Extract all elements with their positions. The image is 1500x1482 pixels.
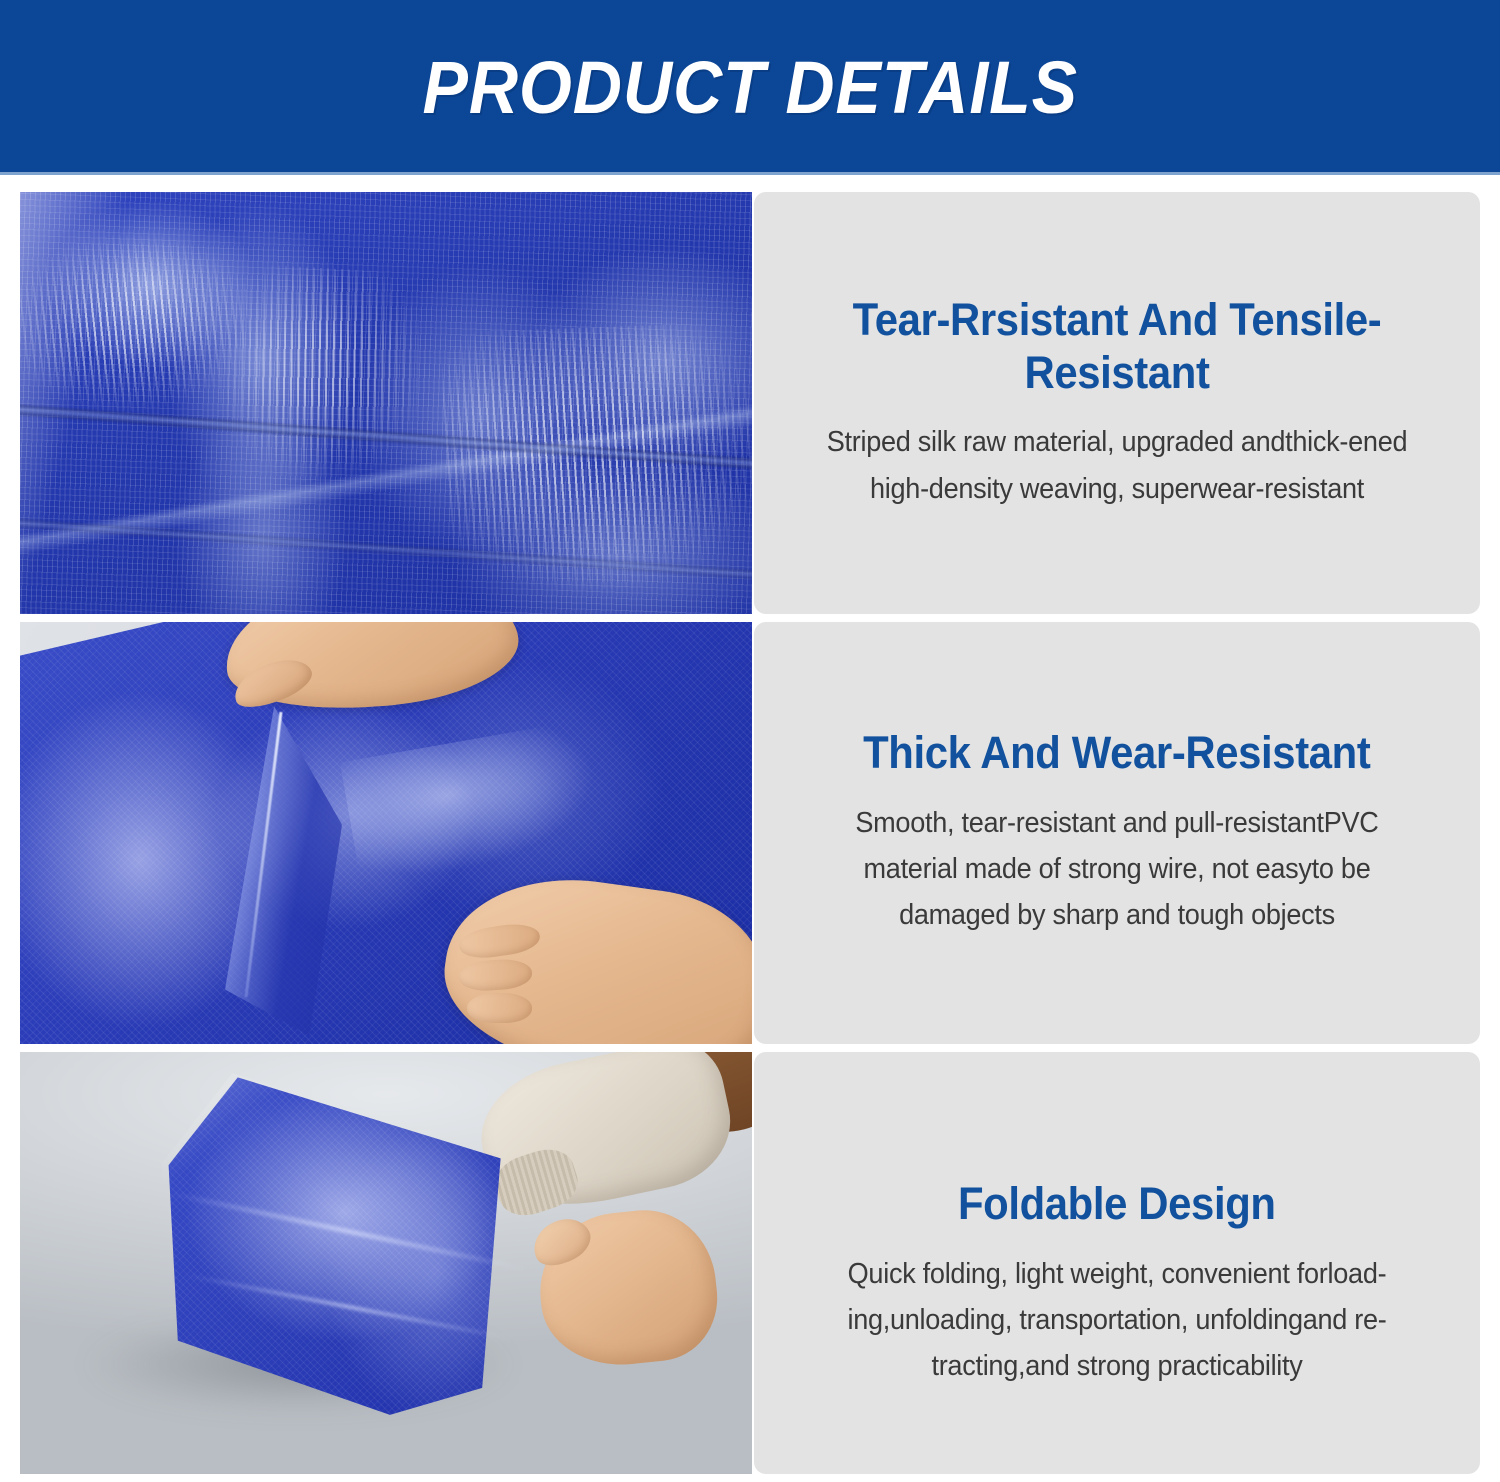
feature-row-1: Tear-Rrsistant And Tensile-Resistant Str… <box>20 192 1480 614</box>
feature-row-3: Foldable Design Quick folding, light wei… <box>20 1052 1480 1474</box>
fold-scene <box>20 1052 752 1474</box>
feature-description-1: Striped silk raw material, upgraded andt… <box>813 419 1421 511</box>
feature-text-panel-2: Thick And Wear-Resistant Smooth, tear-re… <box>754 622 1480 1044</box>
feature-row-2: Thick And Wear-Resistant Smooth, tear-re… <box>20 622 1480 1044</box>
banner-underline <box>0 172 1500 175</box>
product-details-banner: PRODUCT DETAILS <box>0 0 1500 175</box>
feature-title-2: Thick And Wear-Resistant <box>863 727 1370 780</box>
feature-text-panel-3: Foldable Design Quick folding, light wei… <box>754 1052 1480 1474</box>
feature-description-2: Smooth, tear-resistant and pull-resistan… <box>813 800 1421 938</box>
feature-text-panel-1: Tear-Rrsistant And Tensile-Resistant Str… <box>754 192 1480 614</box>
feature-title-3: Foldable Design <box>958 1178 1276 1231</box>
feature-rows: Tear-Rrsistant And Tensile-Resistant Str… <box>0 175 1500 1482</box>
feature-image-tear-resistant <box>20 192 752 614</box>
feature-description-3: Quick folding, light weight, convenient … <box>813 1251 1421 1389</box>
feature-title-1: Tear-Rrsistant And Tensile-Resistant <box>811 294 1423 399</box>
hand-lower-finger-3 <box>467 993 533 1023</box>
page-title: PRODUCT DETAILS <box>422 51 1078 125</box>
feature-image-thick-wear-resistant <box>20 622 752 1044</box>
tarp-highlight-center <box>205 262 436 493</box>
feature-image-foldable-design <box>20 1052 752 1474</box>
stretch-scene <box>20 622 752 1044</box>
